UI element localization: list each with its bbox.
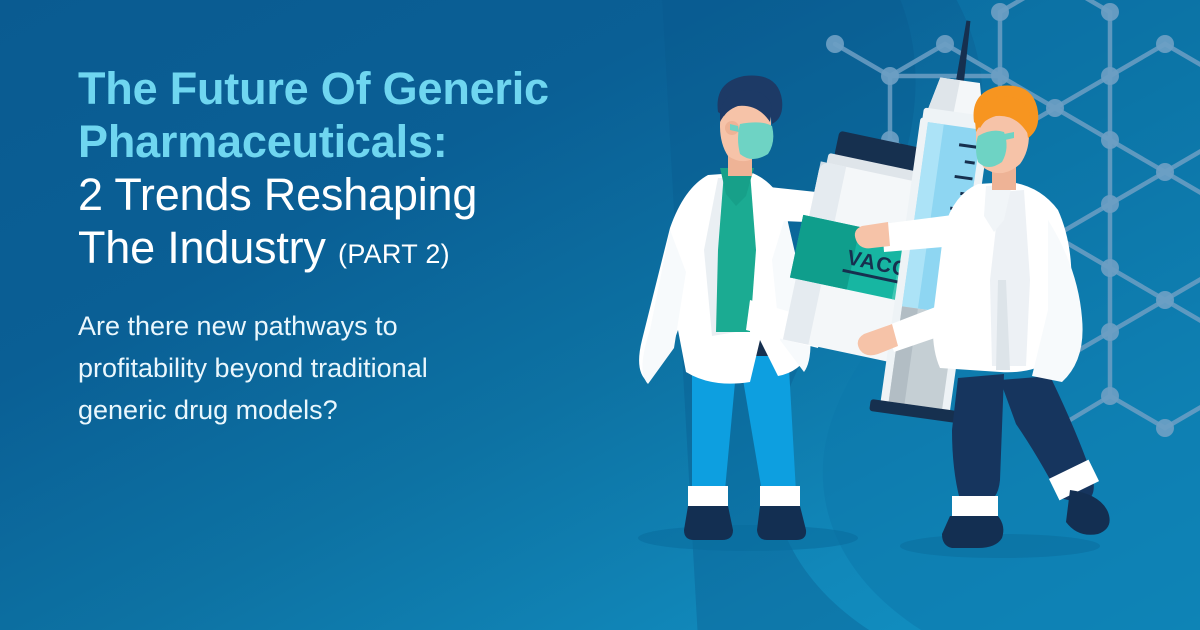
- right-scientist-face-mask: [976, 131, 1007, 167]
- scientists-illustration: VACCINE: [600, 0, 1200, 630]
- subtitle-line-1: Are there new pathways to: [78, 305, 578, 347]
- headline-part-label: (PART 2): [338, 239, 450, 269]
- headline-block: The Future Of Generic Pharmaceuticals: 2…: [78, 62, 678, 431]
- headline-line-4: The Industry (PART 2): [78, 221, 678, 281]
- syringe-needle: [956, 20, 972, 81]
- left-scientist-face-mask: [738, 122, 773, 159]
- left-scientist-sock-back: [688, 486, 728, 508]
- left-scientist-shoe-front: [757, 506, 806, 540]
- subtitle-block: Are there new pathways to profitability …: [78, 305, 578, 431]
- subtitle-line-2: profitability beyond traditional: [78, 347, 578, 389]
- left-scientist-sock-front: [760, 486, 800, 508]
- right-scientist-leg-front: [952, 374, 1004, 504]
- subtitle-line-3: generic drug models?: [78, 389, 578, 431]
- right-scientist-shoe-back: [1066, 490, 1110, 535]
- right-scientist-shoe-front: [942, 516, 1003, 548]
- headline-line-2: Pharmaceuticals:: [78, 115, 678, 168]
- right-scientist-sock-front: [952, 496, 998, 518]
- headline-line-4-text: The Industry: [78, 222, 326, 273]
- headline-line-1: The Future Of Generic: [78, 62, 678, 115]
- headline-line-3: 2 Trends Reshaping: [78, 168, 678, 221]
- floor-shadow-left: [638, 525, 858, 551]
- illustration: VACCINE: [600, 0, 1200, 630]
- left-scientist-shoe-back: [684, 506, 733, 540]
- banner-root: The Future Of Generic Pharmaceuticals: 2…: [0, 0, 1200, 630]
